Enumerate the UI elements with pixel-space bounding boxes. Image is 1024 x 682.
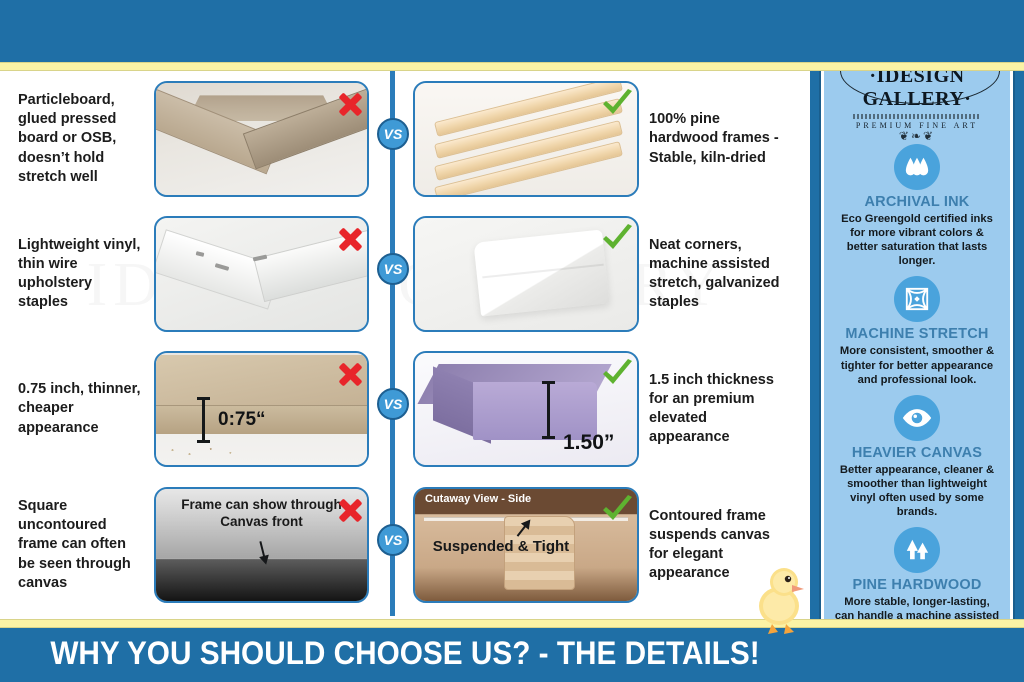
vs-badge: VS [377, 524, 409, 556]
feature-body: Better appearance, cleaner & smoother th… [834, 463, 1000, 519]
row-left-text: 0.75 inch, thinner, cheaper appearance [0, 380, 148, 437]
vinyl-frame-staples-photo [154, 216, 369, 332]
water-drops-icon [894, 144, 940, 190]
comparison-row: Particleboard, glued pressed board or OS… [0, 72, 810, 206]
dimension-line [547, 381, 550, 439]
row-right-text: 1.5 inch thickness for an premium elevat… [639, 371, 791, 448]
check-mark-icon [601, 495, 635, 530]
x-mark-icon [335, 495, 365, 525]
pine-trees-icon [894, 527, 940, 573]
duckling-image [752, 556, 810, 636]
vs-divider: VS [369, 342, 413, 476]
dimension-line [202, 397, 205, 443]
vs-badge: VS [377, 118, 409, 150]
footer-band: WHY YOU SHOULD CHOOSE US? - THE DETAILS! [0, 628, 1024, 682]
vs-divider: VS [369, 207, 413, 341]
check-mark-icon [601, 89, 635, 124]
header-band [0, 0, 1024, 62]
row-left-text: Square uncontoured frame can often be se… [0, 497, 148, 593]
pine-hardwood-strips-photo [413, 81, 639, 197]
particleboard-thickness-photo: 0:75“ [154, 351, 369, 467]
vs-divider: VS [369, 478, 413, 612]
row-left-text: Lightweight vinyl, thin wire upholstery … [0, 236, 148, 313]
thickness-label: 1.50” [563, 431, 614, 455]
thickness-label: 0:75“ [218, 409, 266, 431]
comparison-grid: Particleboard, glued pressed board or OS… [0, 72, 810, 608]
particleboard-frame-corner-photo [154, 81, 369, 197]
comparison-row: 0.75 inch, thinner, cheaper appearance 0… [0, 342, 810, 476]
feature-heavier-canvas: HEAVIER CANVAS Better appearance, cleane… [824, 395, 1010, 519]
row-right-text: Neat corners, machine assisted stretch, … [639, 236, 791, 313]
feature-title: MACHINE STRETCH [834, 326, 1000, 342]
purple-canvas-thickness-photo: 1.50” [413, 351, 639, 467]
check-mark-icon [601, 224, 635, 259]
feature-body: Eco Greengold certified inks for more vi… [834, 212, 1000, 268]
vs-badge: VS [377, 253, 409, 285]
eye-icon [894, 395, 940, 441]
comparison-row: Square uncontoured frame can often be se… [0, 478, 810, 612]
x-mark-icon [335, 359, 365, 389]
footer-yellow-stripe [0, 619, 1024, 628]
vs-divider: VS [369, 72, 413, 206]
stretched-canvas-icon [894, 276, 940, 322]
x-mark-icon [335, 89, 365, 119]
cutaway-side-view-photo: Cutaway View - Side Suspended & Tight [413, 487, 639, 603]
vs-badge: VS [377, 388, 409, 420]
check-mark-icon [601, 359, 635, 394]
x-mark-icon [335, 224, 365, 254]
header-yellow-stripe [0, 62, 1024, 71]
feature-body: More consistent, smoother & tighter for … [834, 344, 1000, 386]
feature-title: PINE HARDWOOD [834, 577, 1000, 593]
feature-title: HEAVIER CANVAS [834, 445, 1000, 461]
infographic-page: ·IDESIGN GALLERY· THEIR CANVAS OUR CANVA… [0, 0, 1024, 682]
feature-machine-stretch: MACHINE STRETCH More consistent, smoothe… [824, 276, 1010, 386]
comparison-row: Lightweight vinyl, thin wire upholstery … [0, 207, 810, 341]
row-right-text: 100% pine hardwood frames - Stable, kiln… [639, 110, 791, 167]
sidebar: ❦❧❦ ROCK YOUR SPACE ·IDESIGN GALLERY· PR… [821, 13, 1013, 669]
logo-name: ·IDESIGN GALLERY· [824, 65, 1010, 111]
row-left-text: Particleboard, glued pressed board or OS… [0, 91, 148, 187]
logo-divider-rule [853, 114, 981, 119]
metal-panel-showthrough-photo: Frame can show through Canvas front [154, 487, 369, 603]
logo-flourish-bottom: ❦❧❦ [824, 130, 1010, 142]
feature-archival-ink: ARCHIVAL INK Eco Greengold certified ink… [824, 144, 1010, 268]
neat-white-corner-photo [413, 216, 639, 332]
cutaway-label: Suspended & Tight [433, 538, 569, 555]
footer-title: WHY YOU SHOULD CHOOSE US? - THE DETAILS! [28, 635, 781, 672]
cutaway-header-label: Cutaway View - Side [425, 493, 531, 505]
feature-title: ARCHIVAL INK [834, 194, 1000, 210]
